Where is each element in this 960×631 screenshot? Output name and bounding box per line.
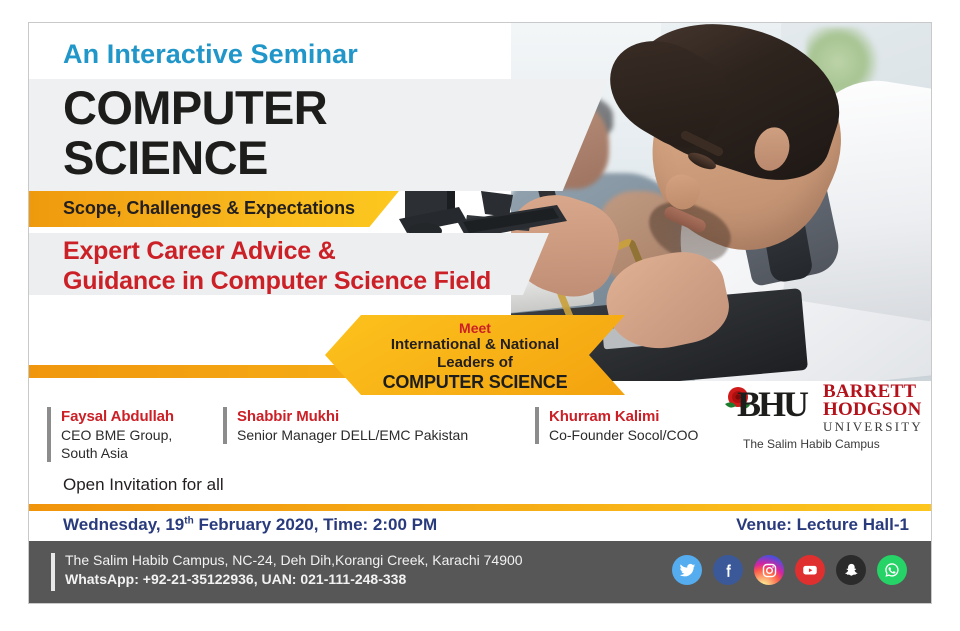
- event-venue: Venue: Lecture Hall-1: [736, 515, 909, 535]
- meet-line-2: International & National: [325, 336, 625, 354]
- meet-line-3: Leaders of: [325, 354, 625, 372]
- footer-bar: The Salim Habib Campus, NC-24, Deh Dih,K…: [29, 541, 931, 603]
- date-divider-rule: [29, 504, 931, 511]
- youtube-icon[interactable]: [795, 555, 825, 585]
- instagram-icon[interactable]: [754, 555, 784, 585]
- pitch-text: Expert Career Advice & Guidance in Compu…: [63, 236, 491, 296]
- logo-tagline: The Salim Habib Campus: [743, 437, 880, 451]
- whatsapp-icon[interactable]: [877, 555, 907, 585]
- seminar-flyer: An Interactive Seminar COMPUTER SCIENCE …: [0, 0, 960, 631]
- speaker-item: Shabbir Mukhi Senior Manager DELL/EMC Pa…: [223, 407, 543, 444]
- speaker-role-2: South Asia: [61, 444, 227, 462]
- facebook-icon[interactable]: [713, 555, 743, 585]
- speaker-role: Senior Manager DELL/EMC Pakistan: [237, 426, 543, 444]
- snapchat-icon[interactable]: [836, 555, 866, 585]
- meet-label: Meet: [325, 320, 625, 336]
- date-suffix: February 2020, Time: 2:00 PM: [194, 515, 437, 534]
- speaker-role: Co-Founder Socol/COO: [549, 426, 745, 444]
- open-invitation-text: Open Invitation for all: [63, 475, 224, 495]
- page-title: COMPUTER SCIENCE: [63, 83, 523, 183]
- speaker-item: Faysal Abdullah CEO BME Group, South Asi…: [47, 407, 227, 462]
- speaker-name: Shabbir Mukhi: [237, 407, 543, 426]
- footer-phone: WhatsApp: +92-21-35122936, UAN: 021-111-…: [65, 570, 523, 589]
- pitch-line-1: Expert Career Advice &: [63, 236, 491, 266]
- university-logo: BHU BARRETT HODGSON UNIVERSITY The Salim…: [719, 381, 915, 453]
- footer-address: The Salim Habib Campus, NC-24, Deh Dih,K…: [65, 551, 523, 570]
- flyer-card: An Interactive Seminar COMPUTER SCIENCE …: [28, 22, 932, 604]
- eyebrow-text: An Interactive Seminar: [63, 39, 358, 70]
- footer-accent-bar: [51, 553, 55, 591]
- meet-line-4: COMPUTER SCIENCE: [325, 372, 625, 393]
- social-links: [672, 555, 907, 585]
- title-line-2: SCIENCE: [63, 133, 523, 183]
- pitch-line-2: Guidance in Computer Science Field: [63, 266, 491, 296]
- logo-name-line-2: HODGSON: [823, 401, 923, 419]
- meet-banner: Meet International & National Leaders of…: [325, 315, 625, 395]
- event-datetime: Wednesday, 19th February 2020, Time: 2:0…: [63, 515, 437, 535]
- speaker-name: Khurram Kalimi: [549, 407, 745, 426]
- speaker-item: Khurram Kalimi Co-Founder Socol/COO: [535, 407, 745, 444]
- subtitle-text: Scope, Challenges & Expectations: [63, 198, 355, 219]
- date-ordinal: th: [184, 515, 193, 526]
- speaker-name: Faysal Abdullah: [61, 407, 227, 426]
- footer-contact-block: The Salim Habib Campus, NC-24, Deh Dih,K…: [65, 551, 523, 589]
- logo-wordmark: BARRETT HODGSON UNIVERSITY: [823, 383, 923, 434]
- twitter-icon[interactable]: [672, 555, 702, 585]
- logo-name-line-3: UNIVERSITY: [823, 419, 923, 434]
- orange-divider-rule: [29, 365, 389, 378]
- title-line-1: COMPUTER: [63, 83, 523, 133]
- speaker-role: CEO BME Group,: [61, 426, 227, 444]
- logo-monogram: BHU: [737, 383, 806, 425]
- speakers-list: Faysal Abdullah CEO BME Group, South Asi…: [47, 407, 687, 469]
- date-prefix: Wednesday, 19: [63, 515, 184, 534]
